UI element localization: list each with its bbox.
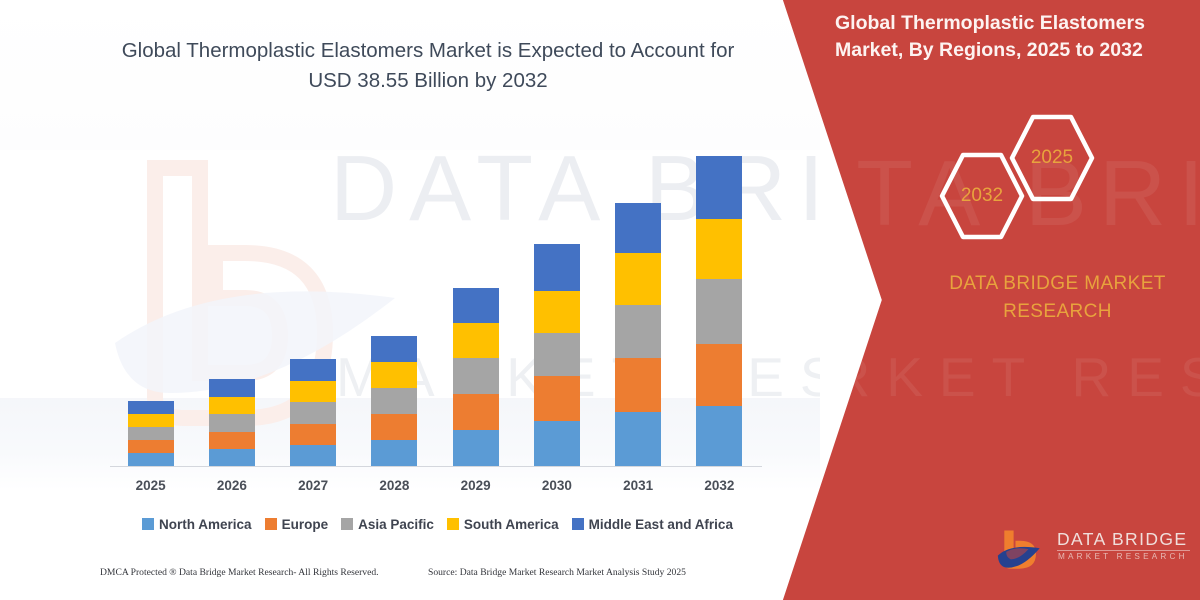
bar-segment: [371, 336, 417, 362]
x-axis-label-2030: 2030: [527, 478, 587, 493]
bar-segment: [371, 388, 417, 414]
legend-item-north-america: North America: [142, 517, 252, 532]
bar-segment: [696, 219, 742, 279]
bar-segment: [290, 381, 336, 402]
x-axis-label-2027: 2027: [283, 478, 343, 493]
footer-copyright: DMCA Protected ® Data Bridge Market Rese…: [100, 567, 379, 578]
legend-label: North America: [159, 517, 252, 532]
bar-segment: [534, 291, 580, 333]
bar-segment: [453, 430, 499, 466]
legend-swatch: [142, 518, 154, 530]
x-axis-label-2028: 2028: [364, 478, 424, 493]
bar-segment: [371, 440, 417, 466]
legend-item-middle-east-and-africa: Middle East and Africa: [572, 517, 733, 532]
bar-segment: [615, 253, 661, 305]
bar-segment: [209, 379, 255, 397]
bar-segment: [128, 414, 174, 427]
bar-2029: [453, 288, 499, 466]
x-axis-line: [110, 466, 762, 467]
bar-2026: [209, 379, 255, 466]
panel-title: Global Thermoplastic Elastomers Market, …: [835, 10, 1180, 64]
legend-item-europe: Europe: [265, 517, 329, 532]
legend-label: Middle East and Africa: [589, 517, 733, 532]
bar-segment: [209, 449, 255, 466]
chart-plot-area: [110, 140, 760, 466]
legend-swatch: [447, 518, 459, 530]
x-axis-label-2026: 2026: [202, 478, 262, 493]
brand-name: DATA BRIDGE MARKET RESEARCH: [915, 270, 1200, 325]
x-axis-label-2032: 2032: [689, 478, 749, 493]
bar-segment: [128, 453, 174, 466]
bar-segment: [534, 421, 580, 466]
bar-segment: [371, 362, 417, 388]
legend-label: Asia Pacific: [358, 517, 434, 532]
bar-segment: [696, 279, 742, 344]
hexagon-badges: 2025 2032: [930, 112, 1105, 227]
bar-segment: [534, 333, 580, 376]
logo-divider: [1057, 550, 1190, 551]
bar-segment: [453, 394, 499, 430]
legend-swatch: [341, 518, 353, 530]
bar-segment: [453, 288, 499, 323]
legend-swatch: [572, 518, 584, 530]
bar-segment: [615, 203, 661, 253]
data-bridge-logo: DATA BRIDGE MARKET RESEARCH: [995, 527, 1195, 579]
bar-segment: [534, 244, 580, 291]
bar-segment: [534, 376, 580, 421]
footer-source: Source: Data Bridge Market Research Mark…: [428, 567, 686, 578]
legend-item-asia-pacific: Asia Pacific: [341, 517, 434, 532]
bar-segment: [453, 323, 499, 358]
x-axis-label-2029: 2029: [446, 478, 506, 493]
hex-badge-2032-label: 2032: [938, 150, 1026, 242]
bar-segment: [209, 414, 255, 432]
hex-badge-2032: 2032: [938, 150, 1026, 242]
bar-segment: [371, 414, 417, 440]
logo-text-main: DATA BRIDGE: [1057, 529, 1187, 550]
bar-2031: [615, 203, 661, 466]
brand-name-line1: DATA BRIDGE MARKET: [915, 270, 1200, 298]
chart-legend: North AmericaEuropeAsia PacificSouth Ame…: [110, 513, 765, 535]
logo-text-sub: MARKET RESEARCH: [1058, 552, 1188, 561]
bar-segment: [128, 427, 174, 440]
legend-item-south-america: South America: [447, 517, 559, 532]
bar-segment: [290, 424, 336, 445]
legend-label: Europe: [282, 517, 329, 532]
bar-2032: [696, 156, 742, 466]
bar-segment: [696, 344, 742, 406]
bar-segment: [209, 397, 255, 414]
data-bridge-b-swoosh-logo-icon: [995, 527, 1049, 575]
bar-segment: [290, 402, 336, 424]
bar-segment: [453, 358, 499, 394]
bar-segment: [209, 432, 255, 449]
legend-label: South America: [464, 517, 559, 532]
bar-segment: [696, 156, 742, 219]
x-axis-labels: 20252026202720282029203020312032: [110, 478, 762, 500]
legend-swatch: [265, 518, 277, 530]
stacked-bar-chart: 20252026202720282029203020312032 North A…: [0, 0, 820, 600]
bar-segment: [128, 401, 174, 414]
x-axis-label-2031: 2031: [608, 478, 668, 493]
brand-name-line2: RESEARCH: [915, 298, 1200, 326]
bar-segment: [128, 440, 174, 453]
bar-2028: [371, 336, 417, 466]
footer: DMCA Protected ® Data Bridge Market Rese…: [0, 567, 790, 589]
bar-segment: [290, 359, 336, 381]
bar-2030: [534, 244, 580, 466]
bar-segment: [615, 305, 661, 358]
bar-segment: [615, 358, 661, 412]
bar-segment: [615, 412, 661, 466]
x-axis-label-2025: 2025: [121, 478, 181, 493]
bar-segment: [696, 406, 742, 466]
bar-segment: [290, 445, 336, 466]
bar-2025: [128, 401, 174, 466]
infographic-page: DATA BRIDGE MARKET RESEARCH Global Therm…: [0, 0, 1200, 600]
bar-2027: [290, 359, 336, 466]
